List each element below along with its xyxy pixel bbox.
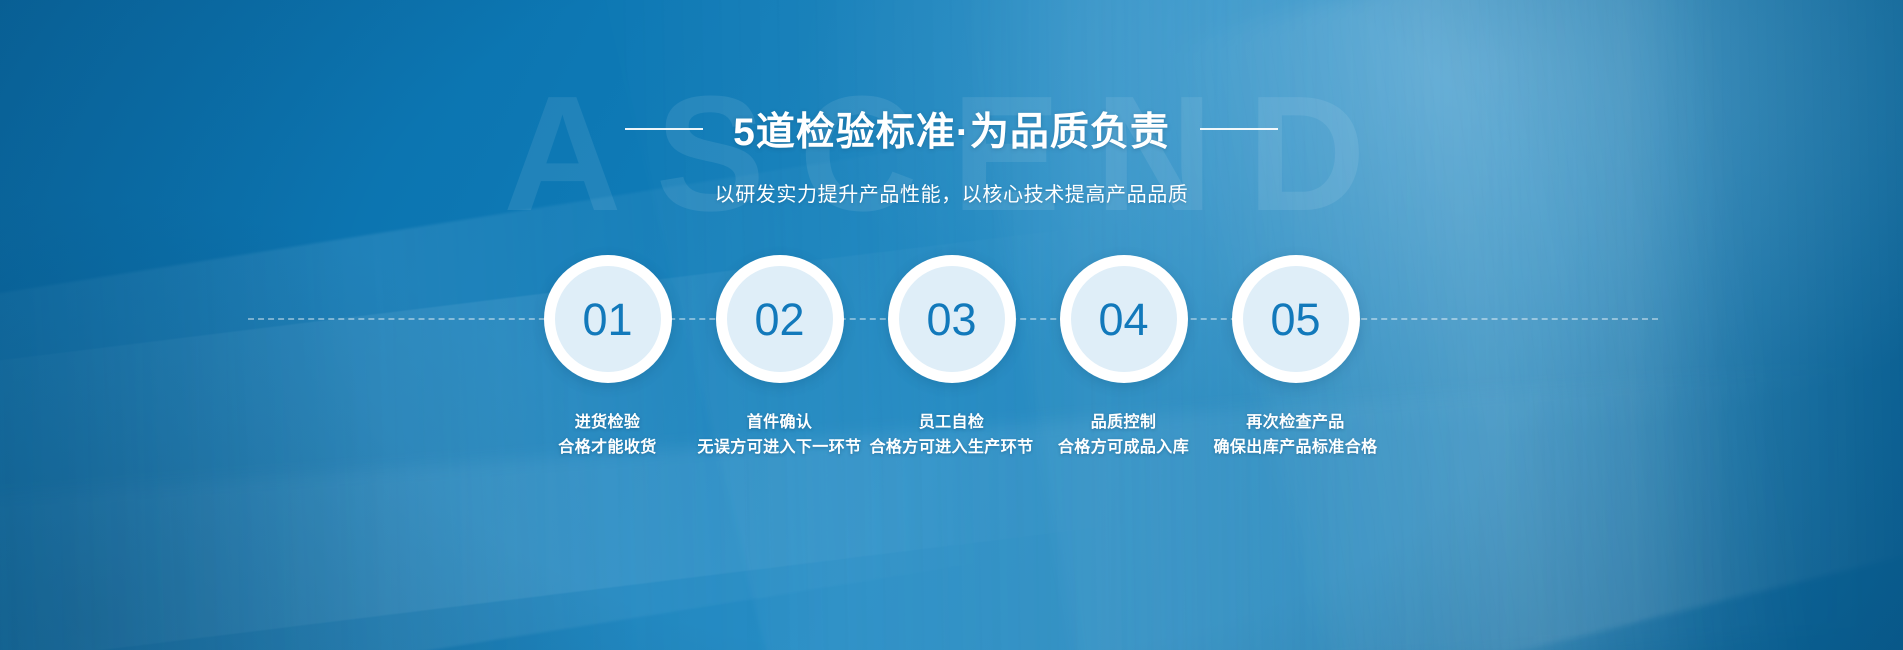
step-description: 无误方可进入下一环节 (698, 436, 862, 461)
step-title: 再次检查产品 (1214, 411, 1378, 436)
step-caption: 品质控制 合格方可成品入库 (1058, 411, 1189, 461)
step-caption: 首件确认 无误方可进入下一环节 (698, 411, 862, 461)
step-number: 02 (754, 297, 804, 342)
step-item[interactable]: 04 品质控制 合格方可成品入库 (1059, 255, 1189, 461)
step-title: 进货检验 (558, 411, 656, 436)
step-circle-inner: 04 (1071, 266, 1177, 372)
step-circle-inner: 02 (727, 266, 833, 372)
step-description: 合格方可成品入库 (1058, 436, 1189, 461)
title-rule-right-icon (1200, 128, 1278, 130)
step-circle[interactable]: 02 (716, 255, 844, 383)
step-circle-inner: 05 (1243, 266, 1349, 372)
page-title: 5道检验标准·为品质负责 (733, 101, 1170, 157)
title-row: 5道检验标准·为品质负责 (0, 0, 1903, 157)
step-number: 01 (582, 297, 632, 342)
step-description: 合格才能收货 (558, 436, 656, 461)
step-item[interactable]: 03 员工自检 合格方可进入生产环节 (887, 255, 1017, 461)
step-description: 确保出库产品标准合格 (1214, 436, 1378, 461)
steps-section: 01 进货检验 合格才能收货 02 首件确认 无误方可进入下一环节 (0, 255, 1903, 545)
step-circle-inner: 01 (555, 266, 661, 372)
step-item[interactable]: 02 首件确认 无误方可进入下一环节 (715, 255, 845, 461)
step-title: 品质控制 (1058, 411, 1189, 436)
step-circle[interactable]: 04 (1060, 255, 1188, 383)
step-title: 员工自检 (870, 411, 1034, 436)
step-title: 首件确认 (698, 411, 862, 436)
step-circle-inner: 03 (899, 266, 1005, 372)
step-caption: 进货检验 合格才能收货 (558, 411, 656, 461)
step-description: 合格方可进入生产环节 (870, 436, 1034, 461)
step-number: 04 (1098, 297, 1148, 342)
step-caption: 再次检查产品 确保出库产品标准合格 (1214, 411, 1378, 461)
step-circle[interactable]: 01 (544, 255, 672, 383)
step-caption: 员工自检 合格方可进入生产环节 (870, 411, 1034, 461)
page-subtitle: 以研发实力提升产品性能，以核心技术提高产品品质 (0, 178, 1903, 207)
quality-inspection-banner: ASCEND 5道检验标准·为品质负责 以研发实力提升产品性能，以核心技术提高产… (0, 0, 1903, 650)
step-number: 05 (1270, 297, 1320, 342)
step-number: 03 (926, 297, 976, 342)
step-item[interactable]: 01 进货检验 合格才能收货 (543, 255, 673, 461)
steps-list: 01 进货检验 合格才能收货 02 首件确认 无误方可进入下一环节 (0, 255, 1903, 461)
step-circle[interactable]: 05 (1232, 255, 1360, 383)
header-block: 5道检验标准·为品质负责 以研发实力提升产品性能，以核心技术提高产品品质 (0, 0, 1903, 207)
title-rule-left-icon (625, 128, 703, 130)
step-circle[interactable]: 03 (888, 255, 1016, 383)
step-item[interactable]: 05 再次检查产品 确保出库产品标准合格 (1231, 255, 1361, 461)
